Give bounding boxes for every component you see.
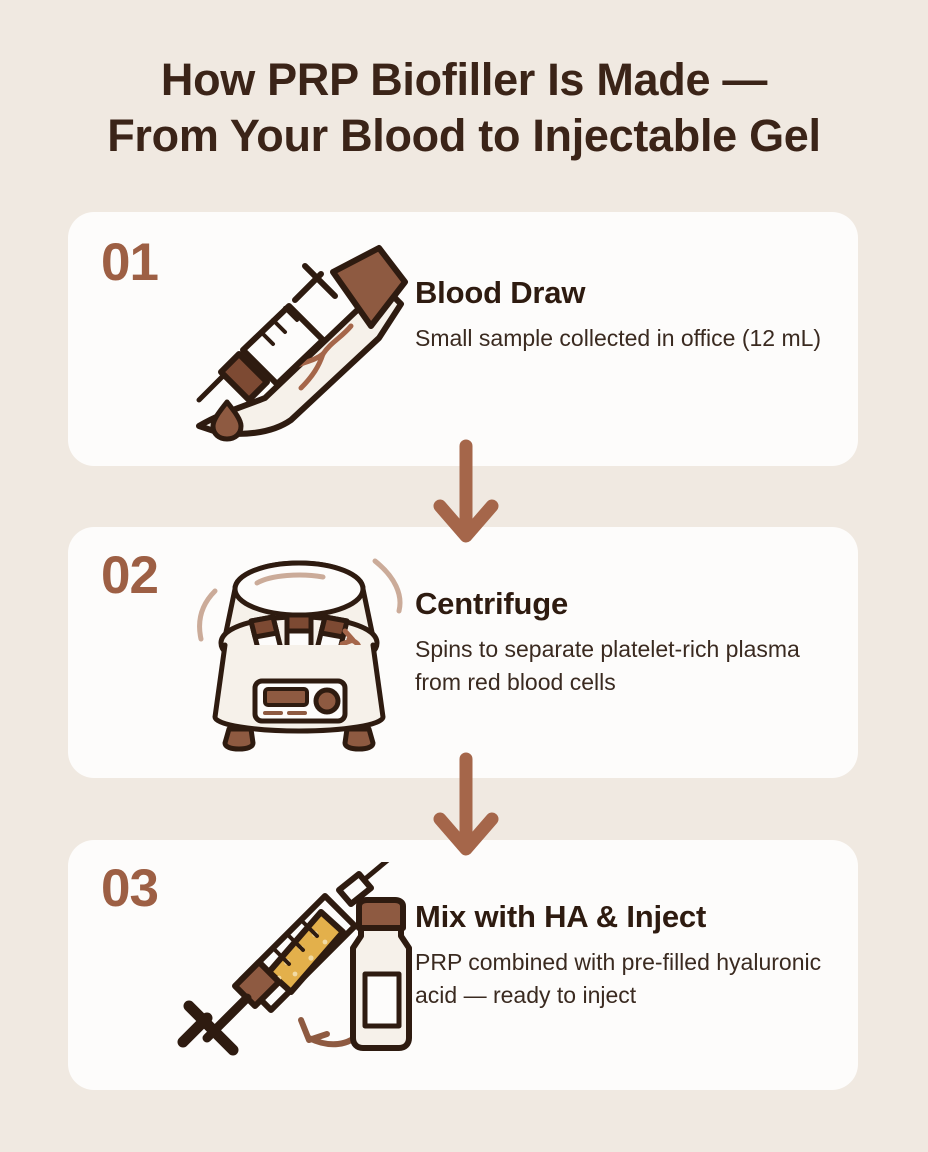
step-number-1: 01 <box>101 236 158 289</box>
page-title-line-2: From Your Blood to Injectable Gel <box>0 108 928 164</box>
step-card-1: 01 <box>68 212 858 466</box>
step-desc-3: PRP combined with pre-filled hyaluronic … <box>415 946 835 1012</box>
step-title-2: Centrifuge <box>415 585 845 623</box>
down-arrow-icon-1 <box>430 438 502 548</box>
centrifuge-illustration <box>173 547 423 757</box>
step-text-1: Blood Draw Small sample collected in off… <box>415 274 845 355</box>
step-title-1: Blood Draw <box>415 274 845 312</box>
step-text-2: Centrifuge Spins to separate platelet-ri… <box>415 585 845 699</box>
down-arrow-icon-2 <box>430 751 502 861</box>
syringe-vial-illustration <box>163 862 423 1072</box>
page-title-line-1: How PRP Biofiller Is Made — <box>0 52 928 108</box>
step-card-2: 02 <box>68 527 858 778</box>
step-number-2: 02 <box>101 549 158 602</box>
step-desc-1: Small sample collected in office (12 mL) <box>415 322 835 355</box>
step-desc-2: Spins to separate platelet-rich plasma f… <box>415 633 835 699</box>
page-title: How PRP Biofiller Is Made — From Your Bl… <box>0 52 928 164</box>
step-title-3: Mix with HA & Inject <box>415 898 845 936</box>
step-number-3: 03 <box>101 862 158 915</box>
step-text-3: Mix with HA & Inject PRP combined with p… <box>415 898 845 1012</box>
step-card-3: 03 <box>68 840 858 1090</box>
blood-draw-illustration <box>183 230 413 445</box>
